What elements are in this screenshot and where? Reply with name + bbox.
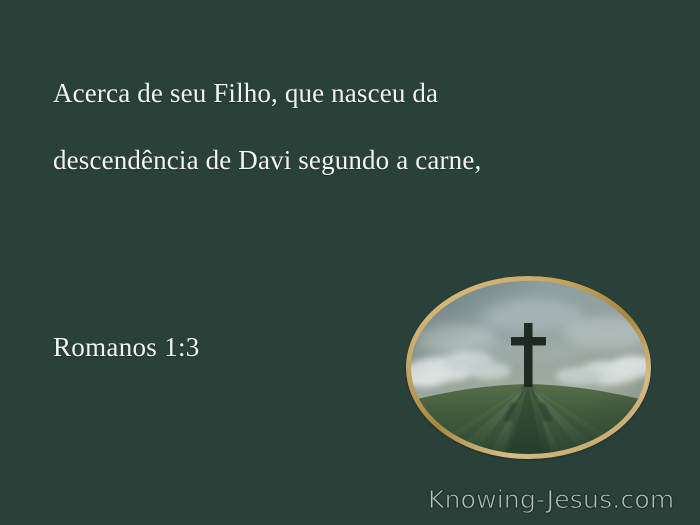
verse-line-2: descendência de Davi segundo a carne, <box>53 127 643 194</box>
cross-on-hill-illustration <box>411 281 646 454</box>
cross-on-hill-image <box>411 281 646 454</box>
site-watermark: Knowing-Jesus.com <box>428 485 674 514</box>
verse-text-block: Acerca de seu Filho, que nasceu da desce… <box>53 60 643 194</box>
verse-line-1: Acerca de seu Filho, que nasceu da <box>53 60 643 127</box>
oval-photo-frame <box>406 276 651 459</box>
scripture-image-card: Acerca de seu Filho, que nasceu da desce… <box>0 0 700 525</box>
verse-reference: Romanos 1:3 <box>53 332 200 363</box>
